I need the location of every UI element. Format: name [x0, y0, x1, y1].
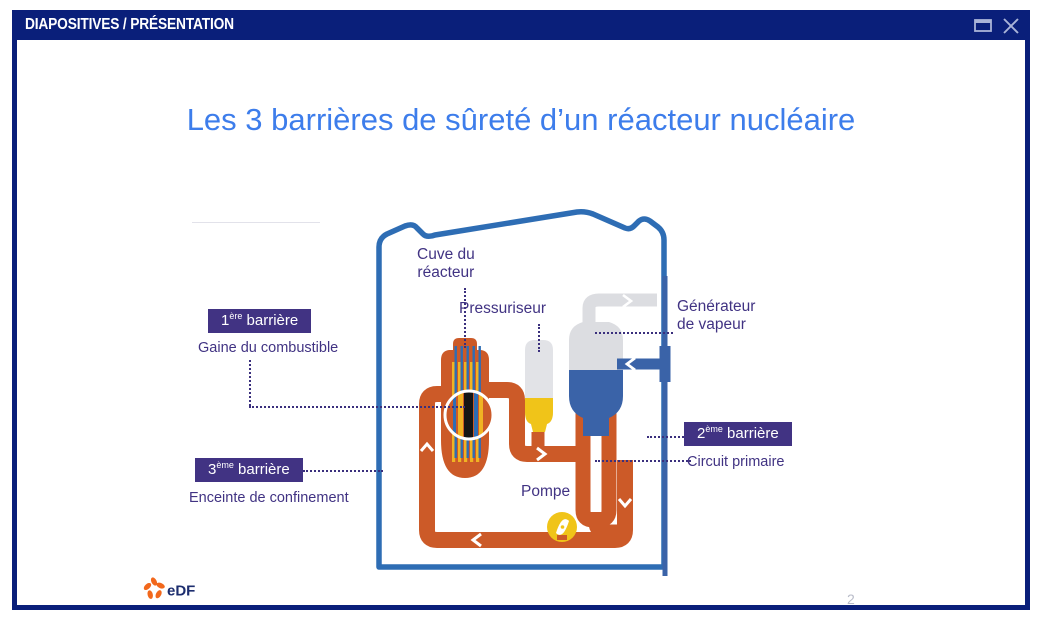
leader-line-barriere-1	[249, 406, 465, 408]
badge-word: barrière	[247, 312, 299, 329]
reactor-schematic	[17, 40, 1025, 605]
fuel-assembly-zoom	[445, 391, 493, 439]
badge-word: barrière	[727, 425, 779, 442]
label-reactor-vessel-line1: Cuve du	[417, 246, 475, 264]
edf-wordmark: eDF	[167, 583, 195, 600]
badge-ordinal: ème	[216, 460, 234, 470]
badge-barriere-1: 1ère barrière	[208, 309, 311, 333]
description-barriere-3: Enceinte de confinement	[189, 490, 349, 506]
pressuriser	[525, 340, 553, 432]
description-barriere-2: Circuit primaire	[687, 454, 785, 470]
restore-icon[interactable]	[972, 14, 994, 36]
label-pump: Pompe	[521, 483, 570, 501]
label-steam-generator-line1: Générateur	[677, 298, 755, 316]
label-reactor-vessel: Cuve du réacteur	[417, 246, 475, 282]
edf-logo: eDF	[141, 575, 211, 605]
leader-line-barriere-2	[647, 436, 687, 438]
edf-pinwheel-icon	[142, 576, 165, 599]
pressuriser-surge-line	[538, 432, 573, 454]
badge-barriere-3: 3ème barrière	[195, 458, 303, 482]
leader-line-steam-generator-bottom	[595, 460, 691, 462]
reactor-vessel	[441, 338, 495, 478]
leader-line-barriere-1-vertical	[249, 360, 251, 406]
label-steam-generator: Générateur de vapeur	[677, 298, 755, 334]
application-window: DIAPOSITIVES / PRÉSENTATION Les 3 barriè…	[12, 10, 1030, 610]
label-reactor-vessel-line2: réacteur	[417, 264, 475, 282]
label-pressuriser: Pressuriseur	[459, 300, 546, 318]
slide-canvas: Les 3 barrières de sûreté d’un réacteur …	[17, 40, 1025, 605]
label-steam-generator-line2: de vapeur	[677, 316, 755, 334]
badge-ordinal: ème	[705, 424, 723, 434]
window-controls	[972, 14, 1022, 36]
leader-line-pressuriser	[538, 324, 540, 352]
leader-line-vessel	[464, 288, 466, 348]
window-titlebar: DIAPOSITIVES / PRÉSENTATION	[12, 10, 1030, 40]
badge-ordinal: ère	[229, 311, 242, 321]
leader-line-steam-generator-top	[595, 332, 673, 334]
close-icon[interactable]	[1000, 14, 1022, 36]
leader-line-barriere-3	[303, 470, 383, 472]
page-number: 2	[847, 591, 855, 605]
badge-word: barrière	[238, 461, 290, 478]
description-barriere-1: Gaine du combustible	[198, 340, 338, 356]
window-title: DIAPOSITIVES / PRÉSENTATION	[25, 16, 234, 34]
badge-barriere-2: 2ème barrière	[684, 422, 792, 446]
